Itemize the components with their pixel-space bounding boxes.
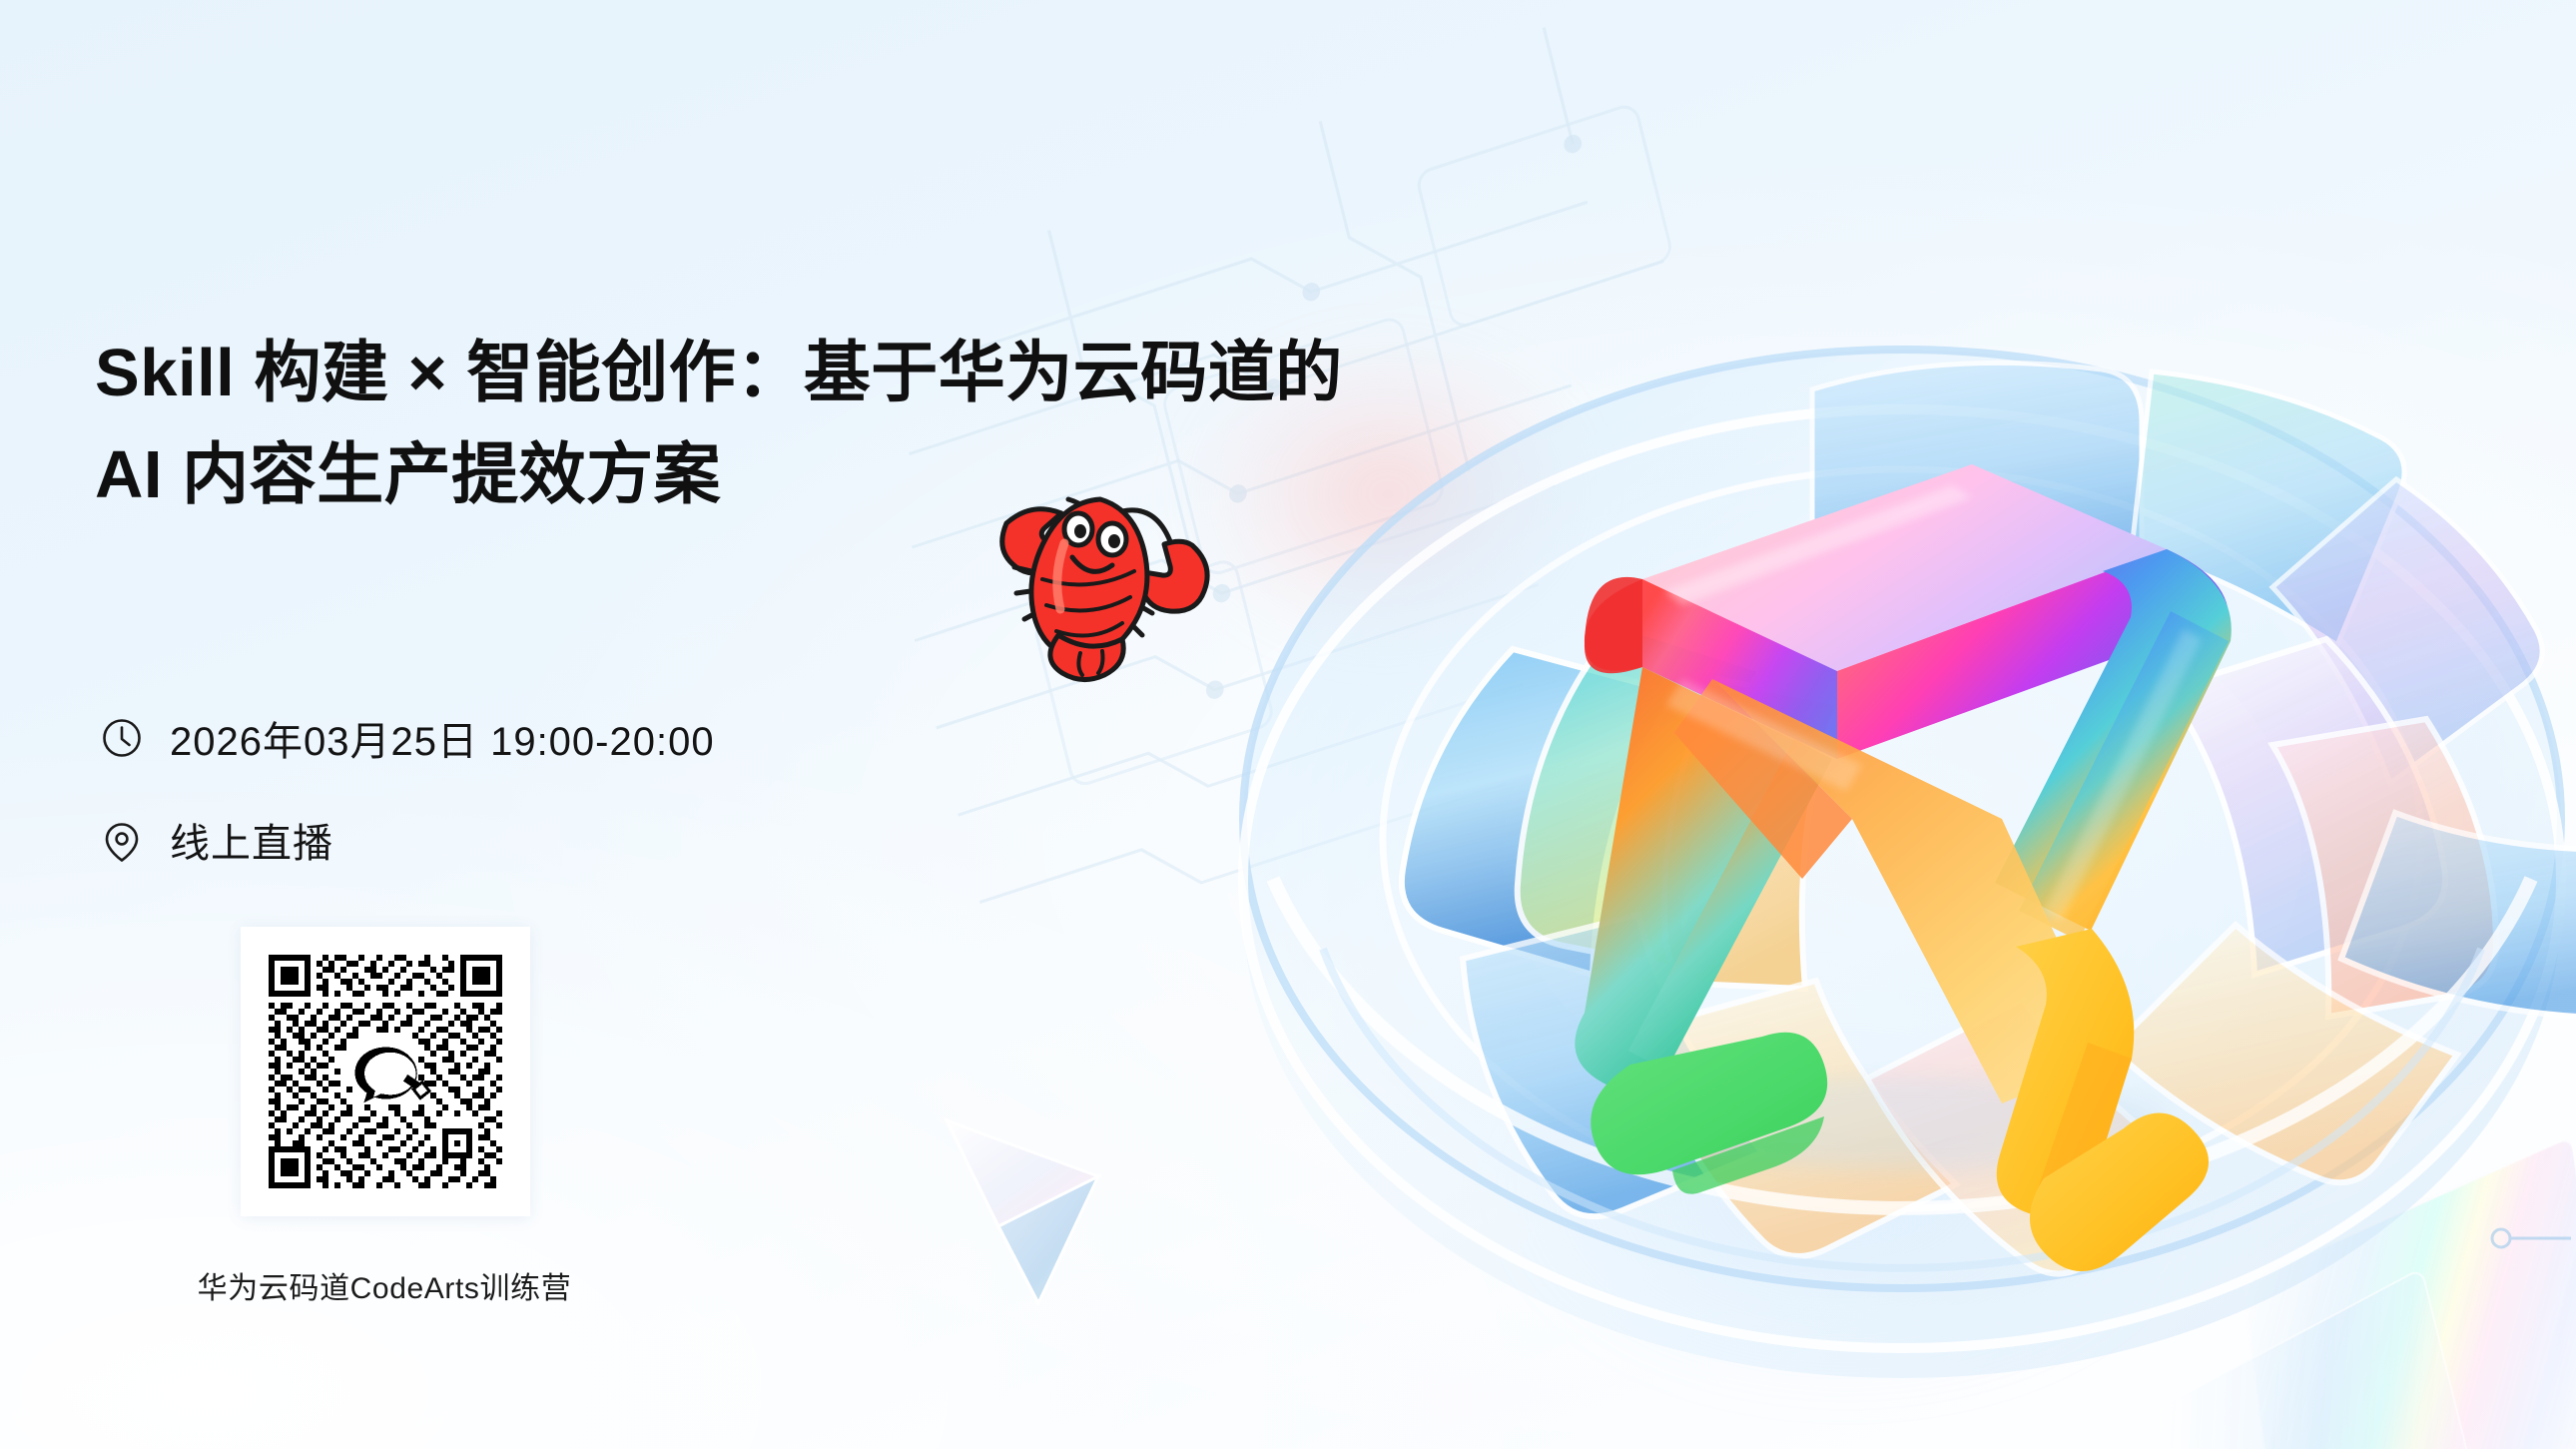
location-pin-icon [100,818,144,862]
headline-line-2: AI 内容生产提效方案 [95,424,1213,526]
event-time-text: 2026年03月25日 19:00-20:00 [170,709,715,767]
event-time-row: 2026年03月25日 19:00-20:00 [100,709,715,767]
content-column: Skill 构建 × 智能创作：基于华为云码道的 AI 内容生产提效方案 202… [0,0,1248,1449]
qr-code[interactable] [241,927,530,1216]
event-place-row: 线上直播 [100,811,333,869]
clock-icon [100,716,144,760]
event-place-text: 线上直播 [170,811,333,869]
page-title: Skill 构建 × 智能创作：基于华为云码道的 AI 内容生产提效方案 [95,323,1213,526]
codearts-3d-ribbon-logo [1213,120,2576,1448]
poster-canvas: Skill 构建 × 智能创作：基于华为云码道的 AI 内容生产提效方案 202… [0,0,2576,1449]
headline-line-1: Skill 构建 × 智能创作：基于华为云码道的 [95,336,1343,410]
qr-code-image [263,949,508,1194]
qr-caption: 华为云码道CodeArts训练营 [150,1263,619,1307]
